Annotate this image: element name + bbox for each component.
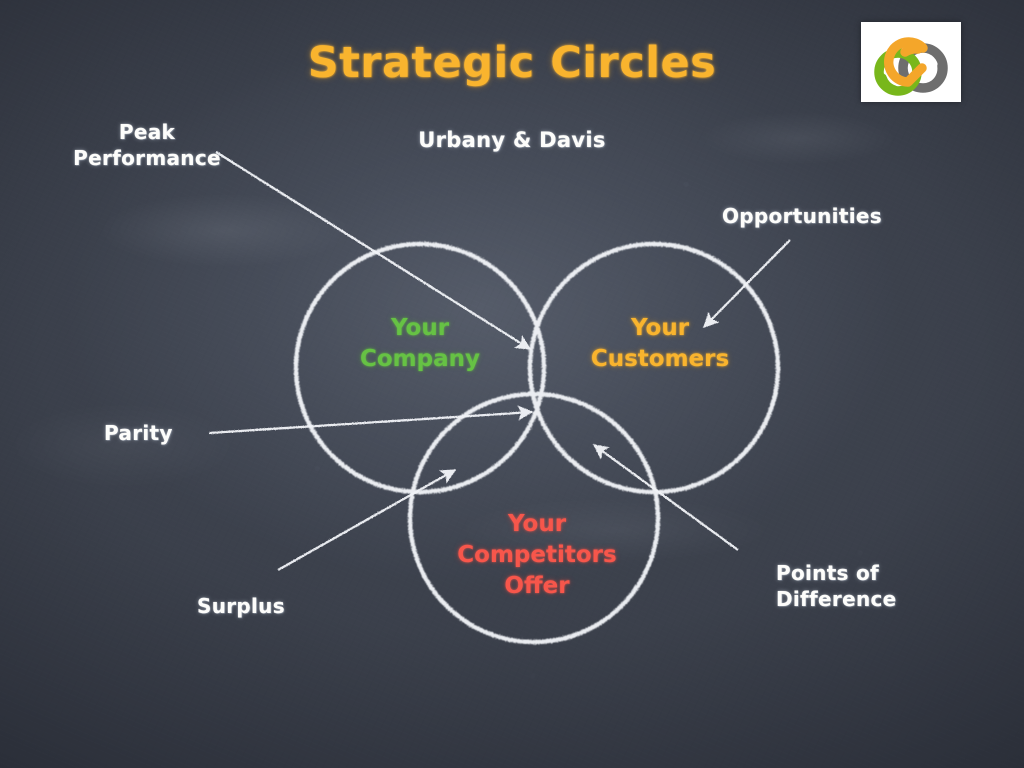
circle-label-your-competitors-offer: Your Competitors Offer bbox=[437, 509, 637, 602]
page-title-text: Strategic Circles bbox=[308, 38, 716, 88]
chalkboard-grain-texture bbox=[0, 0, 1024, 768]
logo-weave-gray bbox=[935, 66, 942, 84]
logo-weave-orange-top bbox=[905, 49, 918, 52]
chalkboard-smudge-texture bbox=[0, 0, 1024, 768]
slide-canvas: Strategic Circles Urbany & Davis bbox=[0, 0, 1024, 768]
callout-label-peak-performance: Peak Performance bbox=[62, 120, 232, 171]
circle-label-your-company: Your Company bbox=[320, 313, 520, 375]
callout-label-parity: Parity bbox=[104, 421, 173, 447]
interlocking-rings-logo bbox=[861, 22, 961, 102]
callout-label-opportunities: Opportunities bbox=[722, 204, 882, 230]
callout-line-surplus bbox=[278, 470, 455, 570]
callout-label-points-of-difference: Points of Difference bbox=[776, 561, 976, 612]
callout-label-surplus: Surplus bbox=[197, 594, 285, 620]
circle-label-your-customers: Your Customers bbox=[560, 313, 760, 375]
venn-diagram bbox=[0, 0, 1024, 768]
logo-svg bbox=[861, 22, 961, 102]
callout-line-parity bbox=[209, 412, 532, 433]
